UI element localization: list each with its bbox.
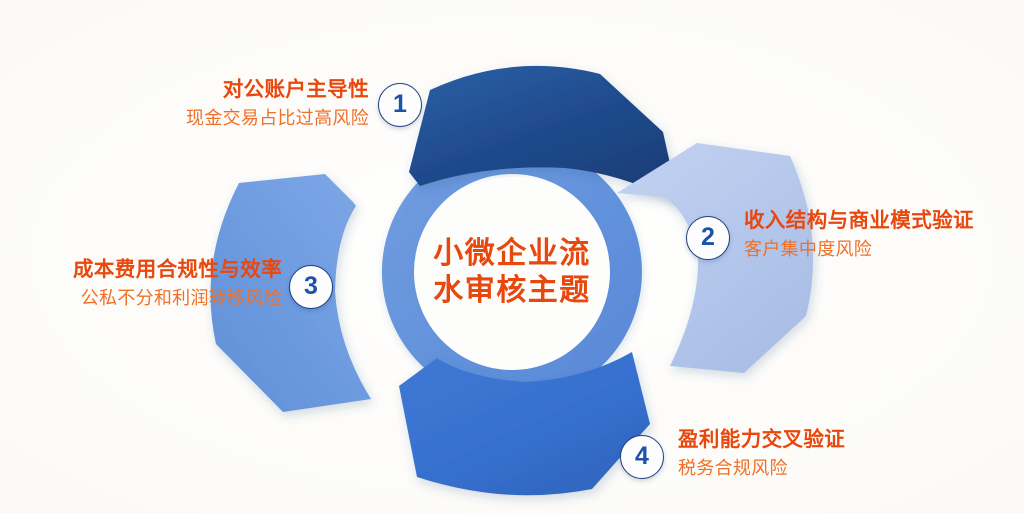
segment-title-2: 收入结构与商业模式验证: [744, 208, 1016, 234]
center-hub: [417, 177, 607, 367]
segment-callout-2[interactable]: 收入结构与商业模式验证 客户集中度风险: [744, 208, 1016, 261]
segment-title-4: 盈利能力交叉验证: [678, 427, 968, 453]
infographic-canvas: 小微企业流 水审核主题 1 2 3 4 对公账户主导性 现金交易占比过高风险 收…: [0, 0, 1024, 513]
segment-badge-4[interactable]: 4: [620, 435, 664, 479]
segment-subtitle-3: 公私不分和利润转移风险: [20, 286, 282, 310]
segment-callout-3[interactable]: 成本费用合规性与效率 公私不分和利润转移风险: [20, 257, 282, 310]
segment-subtitle-2: 客户集中度风险: [744, 237, 1016, 261]
segment-subtitle-1: 现金交易占比过高风险: [137, 106, 369, 130]
segment-badge-2[interactable]: 2: [686, 216, 730, 260]
segment-badge-1[interactable]: 1: [378, 83, 422, 127]
segment-callout-1[interactable]: 对公账户主导性 现金交易占比过高风险: [137, 77, 369, 130]
segment-title-3: 成本费用合规性与效率: [20, 257, 282, 283]
segment-badge-3[interactable]: 3: [289, 265, 333, 309]
segment-callout-4[interactable]: 盈利能力交叉验证 税务合规风险: [678, 427, 968, 480]
segment-title-1: 对公账户主导性: [137, 77, 369, 103]
segment-subtitle-4: 税务合规风险: [678, 456, 968, 480]
